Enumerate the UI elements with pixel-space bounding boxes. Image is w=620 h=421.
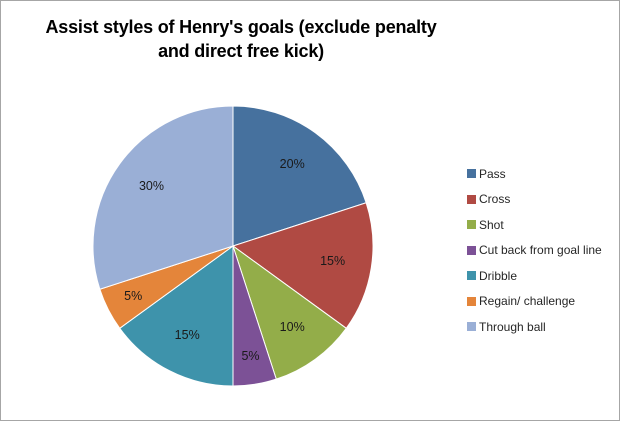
legend-color-swatch xyxy=(467,169,476,178)
pie-chart-svg: 20%15%10%5%15%5%30% xyxy=(1,86,451,416)
pie-slice-label: 5% xyxy=(241,349,259,363)
legend-color-swatch xyxy=(467,297,476,306)
legend-item[interactable]: Regain/ challenge xyxy=(467,289,617,315)
pie-slice-label: 15% xyxy=(320,254,345,268)
chart-title-line-2: and direct free kick) xyxy=(41,39,441,63)
legend-item[interactable]: Dribble xyxy=(467,263,617,289)
legend-item[interactable]: Shot xyxy=(467,212,617,238)
pie-slice-label: 15% xyxy=(175,328,200,342)
legend-color-swatch xyxy=(467,246,476,255)
pie-slices-group xyxy=(93,106,373,386)
legend-item-label: Cross xyxy=(479,193,510,205)
legend-item-label: Dribble xyxy=(479,270,517,282)
legend-item-label: Through ball xyxy=(479,321,546,333)
legend-item-label: Cut back from goal line xyxy=(479,244,602,256)
pie-slice-label: 20% xyxy=(280,157,305,171)
pie-slice-label: 30% xyxy=(139,179,164,193)
legend-item[interactable]: Cross xyxy=(467,187,617,213)
chart-title-line-1: Assist styles of Henry's goals (exclude … xyxy=(41,15,441,39)
legend-color-swatch xyxy=(467,322,476,331)
legend-item-label: Regain/ challenge xyxy=(479,295,575,307)
chart-title: Assist styles of Henry's goals (exclude … xyxy=(41,15,441,64)
legend-color-swatch xyxy=(467,220,476,229)
pie-slice-label: 10% xyxy=(280,320,305,334)
pie-plot-area: 20%15%10%5%15%5%30% xyxy=(1,86,451,416)
chart-legend: PassCrossShotCut back from goal lineDrib… xyxy=(467,161,617,340)
pie-slice-label: 5% xyxy=(124,289,142,303)
legend-color-swatch xyxy=(467,271,476,280)
legend-item[interactable]: Pass xyxy=(467,161,617,187)
legend-item[interactable]: Through ball xyxy=(467,314,617,340)
legend-color-swatch xyxy=(467,195,476,204)
legend-item[interactable]: Cut back from goal line xyxy=(467,238,617,264)
chart-container: Assist styles of Henry's goals (exclude … xyxy=(0,0,620,421)
legend-item-label: Shot xyxy=(479,219,504,231)
legend-item-label: Pass xyxy=(479,168,506,180)
